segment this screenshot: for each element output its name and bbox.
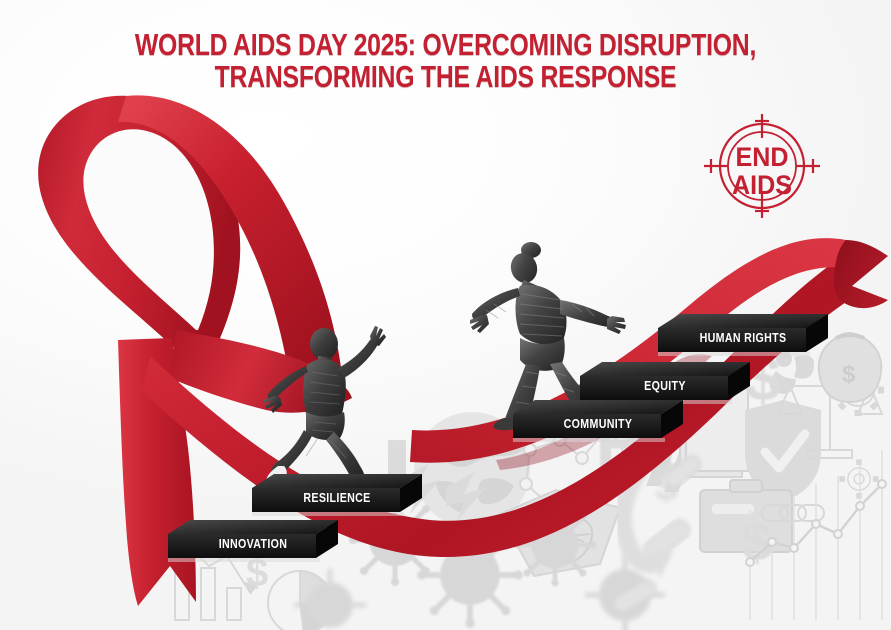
poster-title: WORLD AIDS DAY 2025: OVERCOMING DISRUPTI… — [0, 30, 891, 93]
end-aids-logo: END AIDS — [702, 112, 822, 220]
platform-label: RESILIENCE — [267, 490, 406, 505]
title-line-1: WORLD AIDS DAY 2025: OVERCOMING DISRUPTI… — [89, 30, 802, 60]
title-line-2: TRANSFORMING THE AIDS RESPONSE — [89, 62, 802, 92]
world-aids-day-poster: $ — [0, 0, 891, 630]
platform-resilience[interactable]: RESILIENCE — [252, 472, 422, 520]
platform-label: HUMAN RIGHTS — [673, 330, 812, 345]
platform-human-rights[interactable]: HUMAN RIGHTS — [658, 312, 828, 360]
platform-label: INNOVATION — [183, 536, 322, 551]
striding-person-figure — [250, 318, 410, 498]
platform-community[interactable]: COMMUNITY — [513, 398, 683, 446]
swoosh-arrow-tip — [834, 240, 888, 308]
logo-text-aids: AIDS — [732, 169, 792, 200]
platform-innovation[interactable]: INNOVATION — [168, 518, 338, 566]
platform-label: COMMUNITY — [528, 416, 667, 431]
platform-label: EQUITY — [595, 378, 734, 393]
logo-text-end: END — [735, 141, 788, 172]
